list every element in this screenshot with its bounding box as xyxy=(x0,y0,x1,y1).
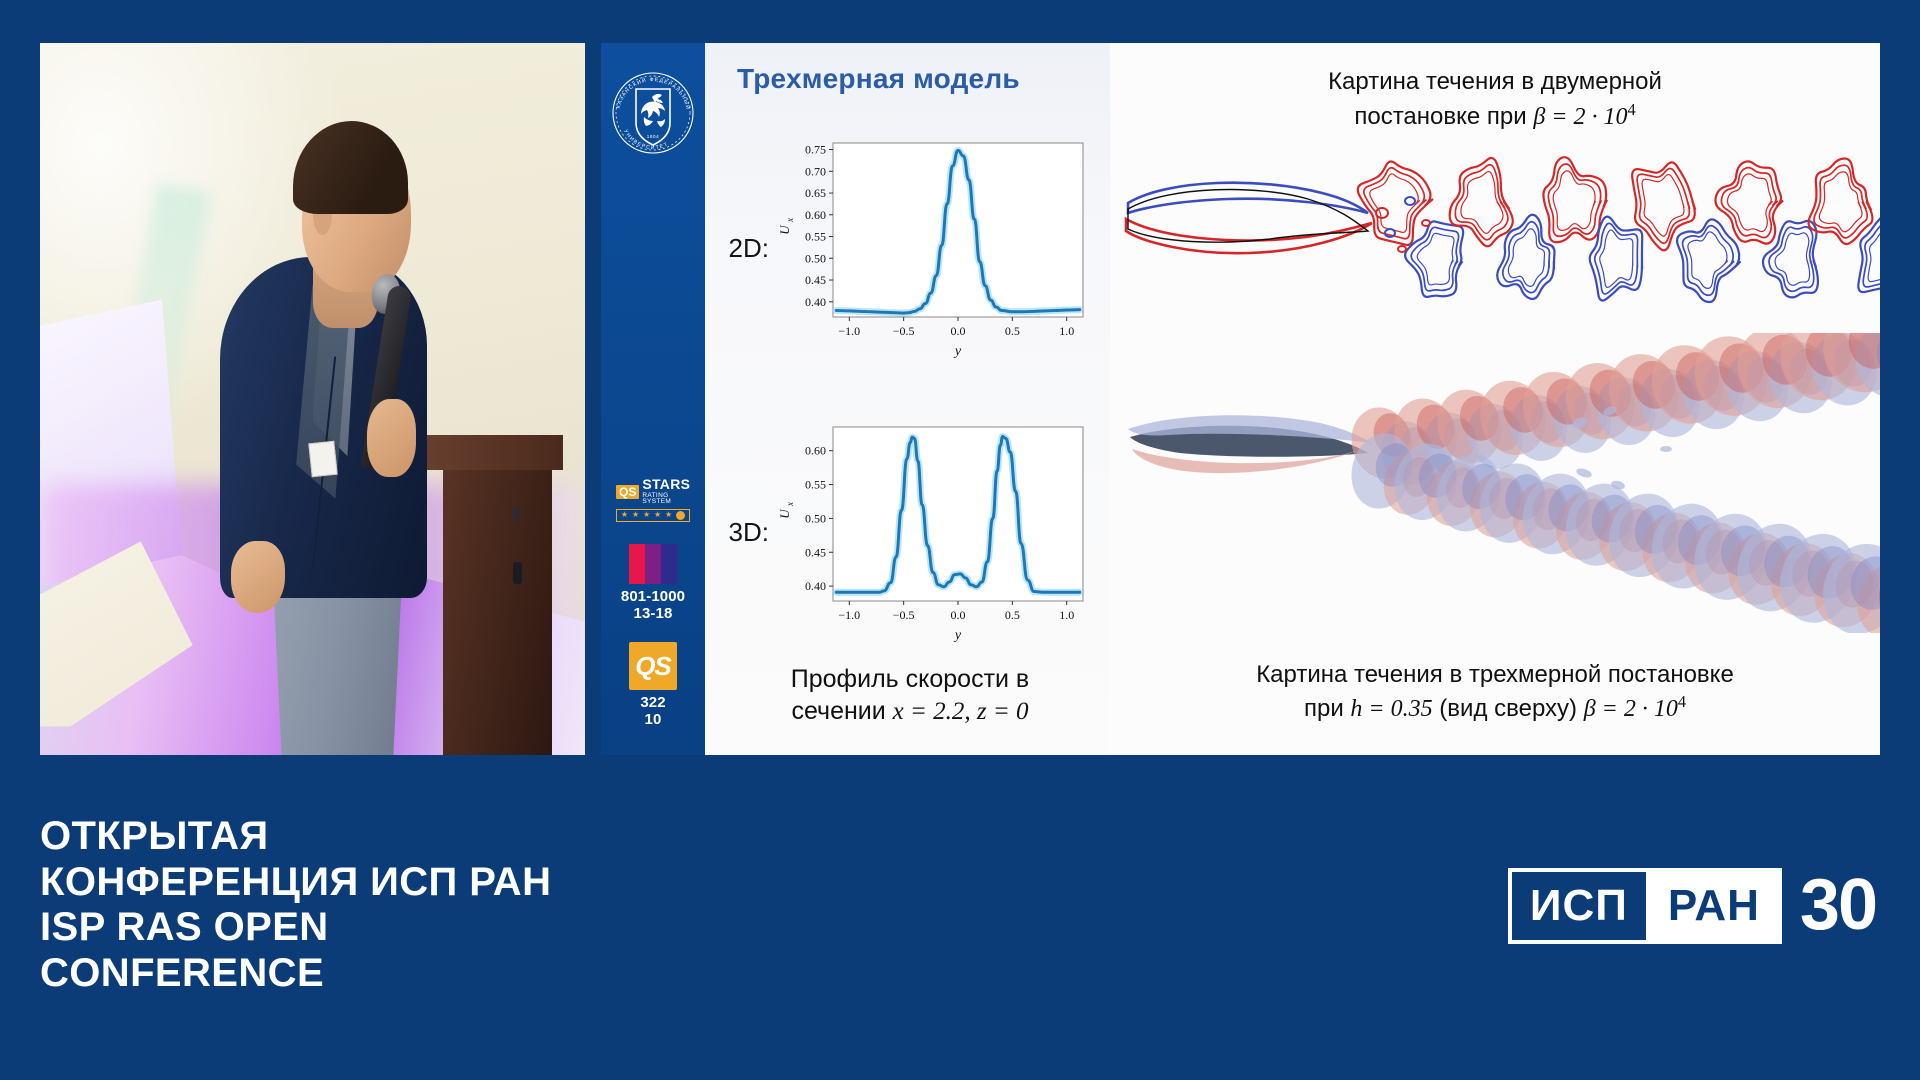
svg-text:U: U xyxy=(777,224,792,235)
right-bottom-caption-b: h = 0.35 xyxy=(1350,696,1432,722)
right-top-caption: Картина течения в двумерной постановке п… xyxy=(1150,65,1840,134)
plot-label-2d: 2D: xyxy=(717,233,769,264)
chart-3d-velocity-profile: 0.400.450.500.550.60−1.0−0.50.00.51.0yUx xyxy=(773,415,1093,650)
svg-text:0.0: 0.0 xyxy=(951,608,966,622)
isp-ras-logo-box: ИСП РАН xyxy=(1508,868,1782,944)
chart-2d-velocity-profile: 0.400.450.500.550.600.650.700.75−1.0−0.5… xyxy=(773,131,1093,366)
star-icon: ★ xyxy=(654,511,661,519)
qs-stars-word-primary: STARS xyxy=(642,477,690,491)
left-caption-line2-formula: x = 2.2, z = 0 xyxy=(893,698,1029,725)
svg-text:0.60: 0.60 xyxy=(805,444,826,458)
anniversary-30-mark: 30 xyxy=(1800,877,1876,935)
right-bottom-caption-exponent: 4 xyxy=(1678,692,1686,711)
conference-title-line4: CONFERENCE xyxy=(40,951,551,997)
isp-logo-part-isp: ИСП xyxy=(1512,872,1650,940)
star-icon: ★ xyxy=(632,511,639,519)
slide-stage: КАЗАНСКИЙ ФЕДЕРАЛЬНЫЙ УНИВЕРСИТЕТ 1804 xyxy=(0,0,1920,776)
left-figure-caption: Профиль скорости в сечении x = 2.2, z = … xyxy=(725,663,1095,728)
speaker-photo xyxy=(40,43,585,755)
photo-speaker-hand-upper xyxy=(367,399,416,477)
qs-ranking-badge: QS 322 10 xyxy=(629,642,677,729)
photo-wooden-desk xyxy=(443,442,552,755)
svg-text:U: U xyxy=(777,508,792,519)
qs-stars-rating-bar: ★ ★ ★ ★ ★ xyxy=(616,509,690,522)
svg-text:0.50: 0.50 xyxy=(805,511,826,525)
figure-3d-isosurface-wake xyxy=(1110,333,1880,633)
svg-text:−1.0: −1.0 xyxy=(838,608,860,622)
slide-right-column: Картина течения в двумерной постановке п… xyxy=(1110,43,1880,755)
the-rank-national: 13-18 xyxy=(621,606,685,623)
right-top-caption-line2: постановке при β = 2 · 104 xyxy=(1150,99,1840,135)
svg-text:y: y xyxy=(953,628,962,643)
conference-title-line2: КОНФЕРЕНЦИЯ ИСП РАН xyxy=(40,860,551,906)
conference-banner: ОТКРЫТАЯ КОНФЕРЕНЦИЯ ИСП РАН ISP RAS OPE… xyxy=(0,776,1920,1080)
star-badge-dot-icon xyxy=(676,511,685,520)
right-bottom-caption-a: при xyxy=(1304,695,1350,722)
svg-text:−0.5: −0.5 xyxy=(893,324,915,338)
svg-text:1804: 1804 xyxy=(647,134,660,139)
right-bottom-caption-line1: Картина течения в трехмерной постановке xyxy=(1130,658,1860,692)
slide-title: Трехмерная модель xyxy=(737,63,1020,95)
slide-left-column: Трехмерная модель 2D: 0.400.450.500.550.… xyxy=(705,43,1110,755)
photo-speaker-hand-lower xyxy=(231,541,286,612)
svg-text:0.5: 0.5 xyxy=(1005,608,1020,622)
conference-title: ОТКРЫТАЯ КОНФЕРЕНЦИЯ ИСП РАН ISP RAS OPE… xyxy=(40,814,551,996)
the-rank-range: 801-1000 xyxy=(621,589,685,606)
left-caption-line2: сечении x = 2.2, z = 0 xyxy=(725,695,1095,728)
svg-text:0.75: 0.75 xyxy=(805,143,826,157)
svg-text:0.45: 0.45 xyxy=(805,273,826,287)
isp-logo-part-ran: РАН xyxy=(1650,872,1778,940)
svg-text:x: x xyxy=(785,502,795,507)
university-badge-strip: КАЗАНСКИЙ ФЕДЕРАЛЬНЫЙ УНИВЕРСИТЕТ 1804 xyxy=(601,43,705,755)
right-top-caption-formula: β = 2 · 10 xyxy=(1533,104,1627,130)
right-bottom-caption: Картина течения в трехмерной постановке … xyxy=(1130,658,1860,727)
right-bottom-caption-d: β = 2 · 10 xyxy=(1584,696,1678,722)
svg-text:0.65: 0.65 xyxy=(805,186,826,200)
photo-desk-top xyxy=(411,435,564,471)
left-caption-line2-prefix: сечении xyxy=(791,697,892,725)
conference-title-line1: ОТКРЫТАЯ xyxy=(40,814,551,860)
photo-desk-keyhole xyxy=(513,562,522,584)
right-bottom-caption-c: (вид сверху) xyxy=(1433,695,1584,722)
photo-desk-handle xyxy=(513,508,519,520)
svg-text:1.0: 1.0 xyxy=(1059,324,1074,338)
conference-title-line3: ISP RAS OPEN xyxy=(40,905,551,951)
qs-stars-word-secondary: RATING SYSTEM xyxy=(642,493,690,506)
the-ranking-badge: 801-1000 13-18 xyxy=(621,542,685,623)
svg-text:−0.5: −0.5 xyxy=(893,608,915,622)
right-top-caption-prefix: постановке при xyxy=(1354,103,1533,130)
right-top-caption-exponent: 4 xyxy=(1627,100,1635,119)
qs-stars-mark: QS xyxy=(616,485,639,499)
svg-text:0.50: 0.50 xyxy=(805,251,826,265)
the-logo-icon xyxy=(629,542,677,584)
svg-text:−1.0: −1.0 xyxy=(838,324,860,338)
qs-logo-icon: QS xyxy=(629,642,677,690)
svg-text:0.55: 0.55 xyxy=(805,478,826,492)
right-bottom-caption-line2: при h = 0.35 (вид сверху) β = 2 · 104 xyxy=(1130,691,1860,727)
qs-stars-badge: QS STARS RATING SYSTEM ★ ★ ★ ★ ★ xyxy=(616,477,690,522)
plot-row-2d: 2D: 0.400.450.500.550.600.650.700.75−1.0… xyxy=(717,131,1093,366)
kazan-federal-university-seal-icon: КАЗАНСКИЙ ФЕДЕРАЛЬНЫЙ УНИВЕРСИТЕТ 1804 xyxy=(611,65,695,159)
svg-text:0.55: 0.55 xyxy=(805,230,826,244)
qs-rank-world: 322 xyxy=(640,695,665,712)
presentation-slide: Трехмерная модель 2D: 0.400.450.500.550.… xyxy=(705,43,1880,755)
svg-text:1.0: 1.0 xyxy=(1059,608,1074,622)
ranking-badges-list: QS STARS RATING SYSTEM ★ ★ ★ ★ ★ xyxy=(601,477,705,729)
svg-text:0.40: 0.40 xyxy=(805,295,826,309)
photo-speaker-badge xyxy=(308,440,337,477)
svg-text:0.45: 0.45 xyxy=(805,545,826,559)
isp-ras-logo: ИСП РАН 30 xyxy=(1508,868,1876,944)
left-caption-line1: Профиль скорости в xyxy=(725,663,1095,695)
svg-text:0.5: 0.5 xyxy=(1005,324,1020,338)
qs-rank-national: 10 xyxy=(640,712,665,729)
plot-row-3d: 3D: 0.400.450.500.550.60−1.0−0.50.00.51.… xyxy=(717,415,1093,650)
qs-logo-text: QS xyxy=(635,651,671,682)
right-top-caption-line1: Картина течения в двумерной xyxy=(1150,65,1840,99)
star-icon: ★ xyxy=(665,511,672,519)
star-icon: ★ xyxy=(643,511,650,519)
svg-text:y: y xyxy=(953,344,962,359)
star-icon: ★ xyxy=(621,511,628,519)
svg-text:0.70: 0.70 xyxy=(805,164,826,178)
svg-text:x: x xyxy=(785,218,795,223)
svg-text:0.60: 0.60 xyxy=(805,208,826,222)
svg-text:0.40: 0.40 xyxy=(805,579,826,593)
figure-2d-vortex-street xyxy=(1110,141,1880,341)
svg-text:0.0: 0.0 xyxy=(951,324,966,338)
plot-label-3d: 3D: xyxy=(717,517,769,548)
